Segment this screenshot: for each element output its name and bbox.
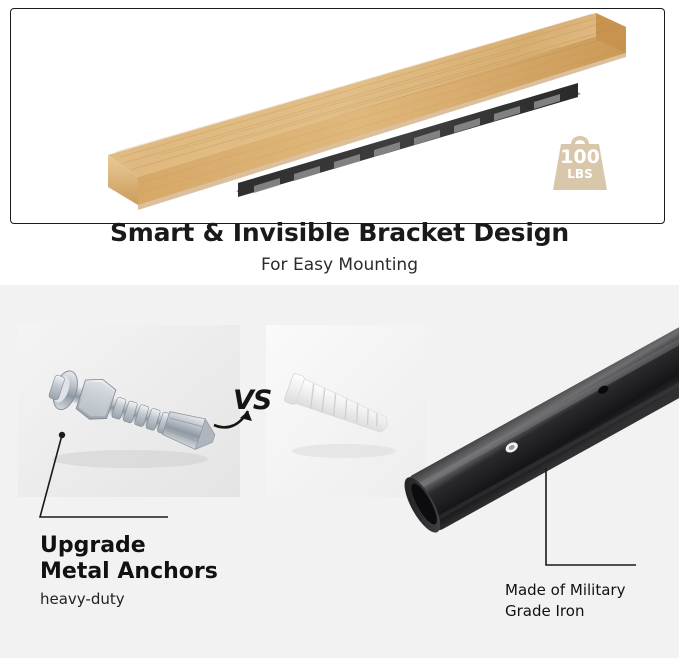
military-line-2: Grade Iron xyxy=(505,602,584,620)
upgrade-callout-title: Upgrade Metal Anchors xyxy=(40,533,218,585)
subheadline-text: For Easy Mounting xyxy=(0,255,679,275)
black-iron-rod xyxy=(380,285,679,585)
bottom-feature-panel: VS xyxy=(0,285,679,658)
weight-value: 100 xyxy=(549,146,611,168)
versus-label: VS xyxy=(233,385,271,416)
weight-unit: LBS xyxy=(549,167,611,181)
upgrade-line-1: Upgrade xyxy=(40,533,146,558)
upgrade-line-2: Metal Anchors xyxy=(40,559,218,584)
military-grade-callout: Made of Military Grade Iron xyxy=(505,580,625,622)
metal-anchor-photo xyxy=(18,325,240,497)
upgrade-callout-subtitle: heavy-duty xyxy=(40,590,125,608)
headline-text: Smart & Invisible Bracket Design xyxy=(0,218,679,247)
weight-capacity-badge: 100 LBS xyxy=(549,128,611,194)
top-feature-panel: 100 LBS Smart & Invisible Bracket Design… xyxy=(0,0,679,285)
military-line-1: Made of Military xyxy=(505,581,625,599)
